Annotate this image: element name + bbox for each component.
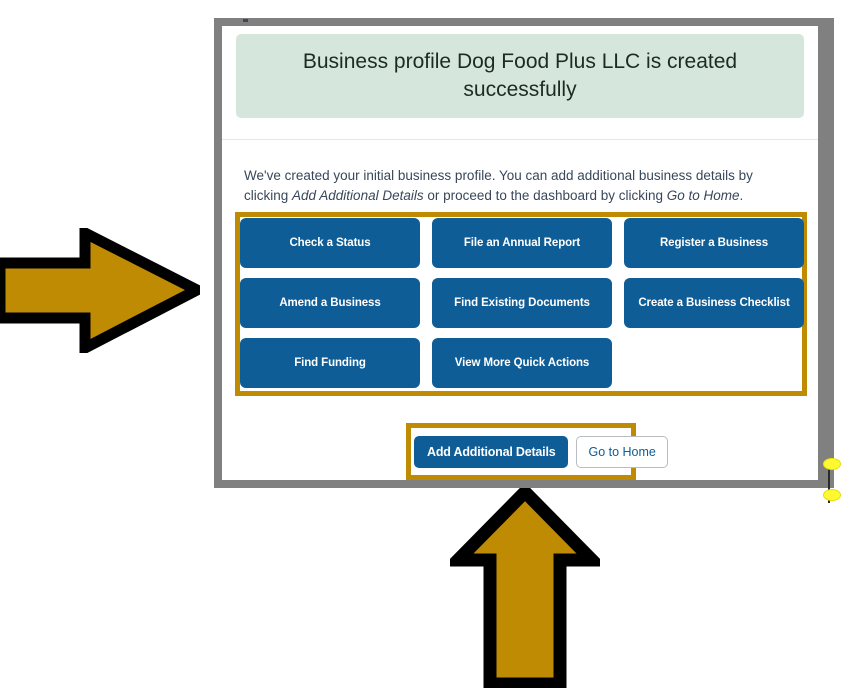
quick-action-amend-a-business[interactable]: Amend a Business	[240, 278, 420, 328]
add-additional-details-button[interactable]: Add Additional Details	[414, 436, 568, 468]
instructions-text-part-2: or proceed to the dashboard by clicking	[424, 188, 667, 203]
edge-annotation-markers	[818, 455, 841, 505]
success-banner: Business profile Dog Food Plus LLC is cr…	[236, 34, 804, 118]
instructions-paragraph: We've created your initial business prof…	[244, 166, 798, 206]
footer-actions: Add Additional Details Go to Home	[414, 431, 628, 472]
quick-action-check-a-status[interactable]: Check a Status	[240, 218, 420, 268]
quick-action-find-funding[interactable]: Find Funding	[240, 338, 420, 388]
quick-action-find-existing-documents[interactable]: Find Existing Documents	[432, 278, 612, 328]
window-frame-tick-mark	[243, 19, 248, 22]
up-arrow-annotation-icon	[450, 488, 600, 688]
card-divider	[222, 139, 818, 140]
edge-marker-dot-top-icon	[823, 458, 841, 470]
business-profile-card: Business profile Dog Food Plus LLC is cr…	[222, 26, 818, 480]
right-arrow-annotation-icon	[0, 228, 200, 353]
edge-marker-dot-bottom-icon	[823, 489, 841, 501]
success-banner-message: Business profile Dog Food Plus LLC is cr…	[262, 48, 778, 104]
instructions-text-part-3: .	[740, 188, 744, 203]
instructions-emphasis-go-to-home: Go to Home	[667, 188, 740, 203]
instructions-emphasis-add-additional-details: Add Additional Details	[292, 188, 424, 203]
quick-actions-grid: Check a Status File an Annual Report Reg…	[240, 218, 804, 390]
quick-action-view-more-quick-actions[interactable]: View More Quick Actions	[432, 338, 612, 388]
go-to-home-button[interactable]: Go to Home	[576, 436, 667, 468]
quick-action-register-a-business[interactable]: Register a Business	[624, 218, 804, 268]
quick-action-file-an-annual-report[interactable]: File an Annual Report	[432, 218, 612, 268]
quick-action-create-a-business-checklist[interactable]: Create a Business Checklist	[624, 278, 804, 328]
